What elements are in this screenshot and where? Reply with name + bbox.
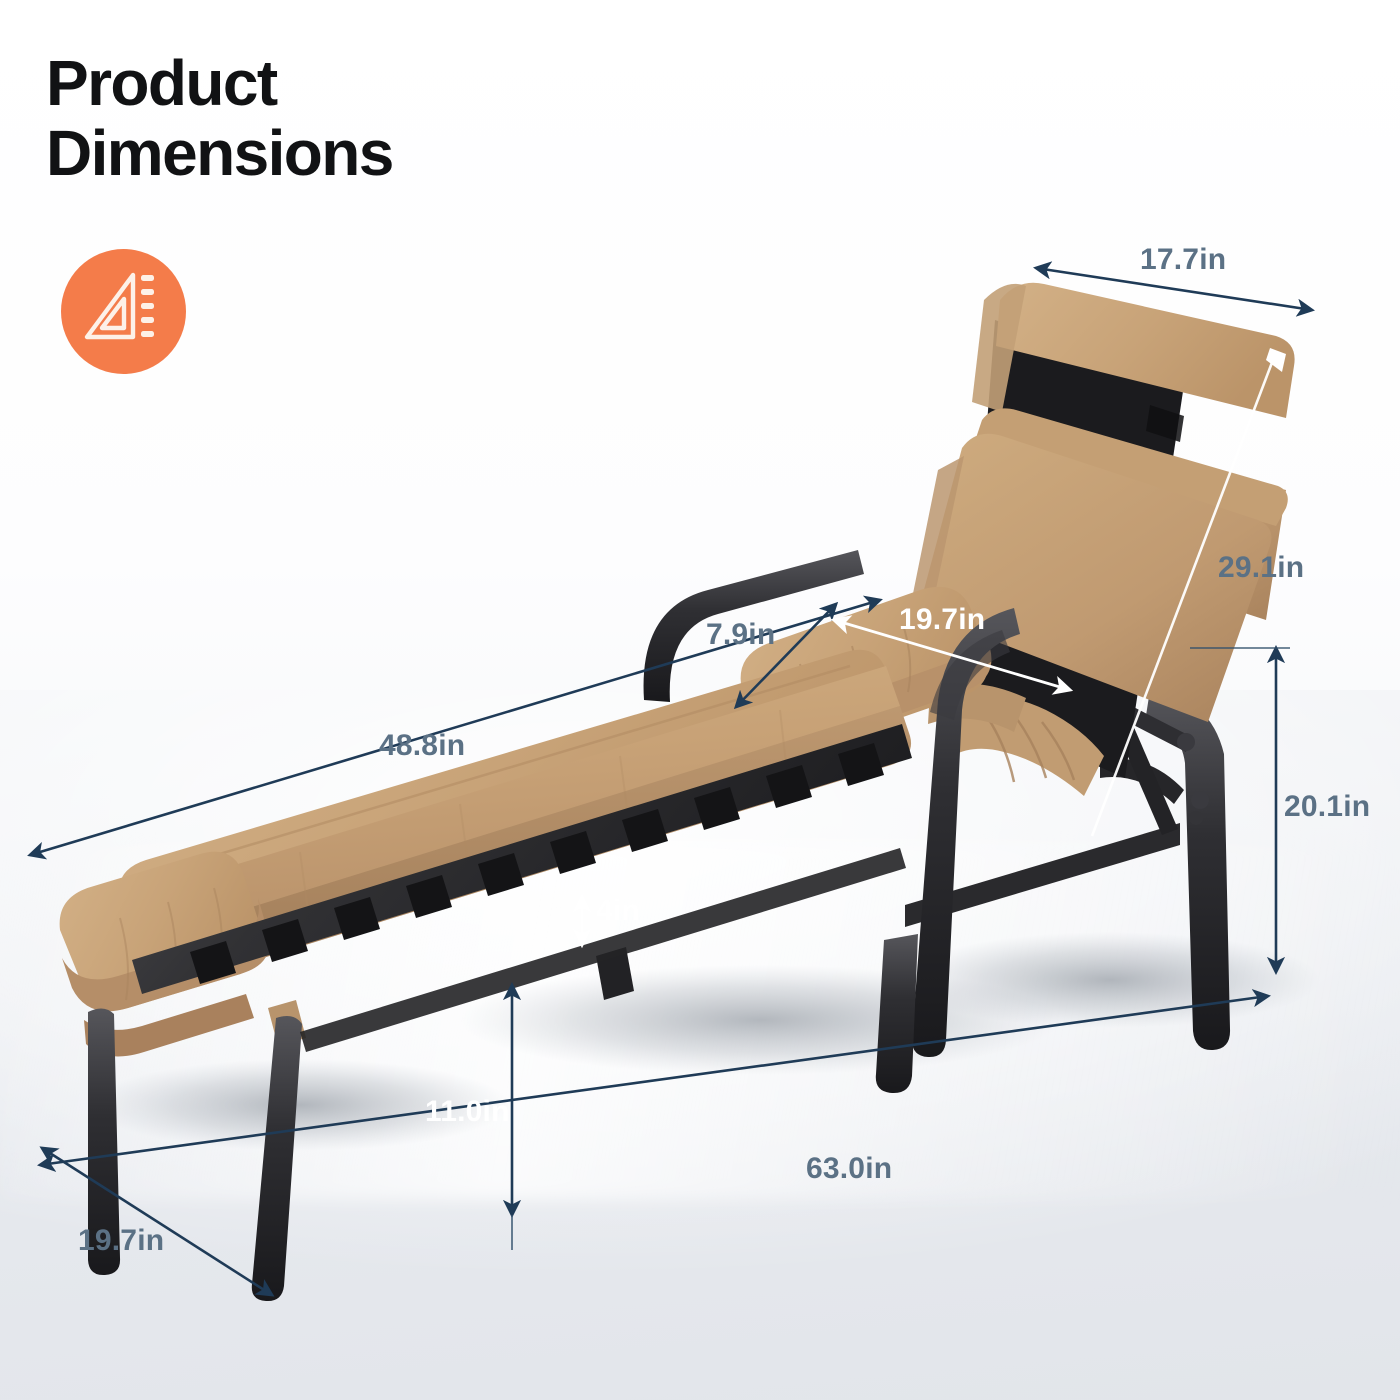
- label-seat-height: 11.0in: [425, 1095, 510, 1129]
- label-backrest-width: 17.7in: [1140, 243, 1226, 277]
- floor-highlight: [0, 840, 1400, 1200]
- label-seat-width: 19.7in: [899, 603, 985, 637]
- label-back-leg-height: 20.1in: [1284, 790, 1370, 824]
- label-overall-width: 19.7in: [78, 1224, 164, 1258]
- label-cushion-length: 48.8in: [379, 729, 465, 763]
- label-headrest-height: 7.9in: [706, 618, 775, 652]
- label-overall-length: 63.0in: [806, 1152, 892, 1186]
- product-dimensions-infographic: Product Dimensions 17.7in 29.1in 7.9in 1…: [0, 0, 1400, 1400]
- ruler-triangle-icon: [61, 249, 186, 374]
- page-title: Product Dimensions: [46, 48, 666, 189]
- label-backrest-length: 29.1in: [1218, 551, 1304, 585]
- ruler-triangle-glyph: [61, 249, 186, 374]
- label-cushion-thickness: 4in: [596, 894, 640, 928]
